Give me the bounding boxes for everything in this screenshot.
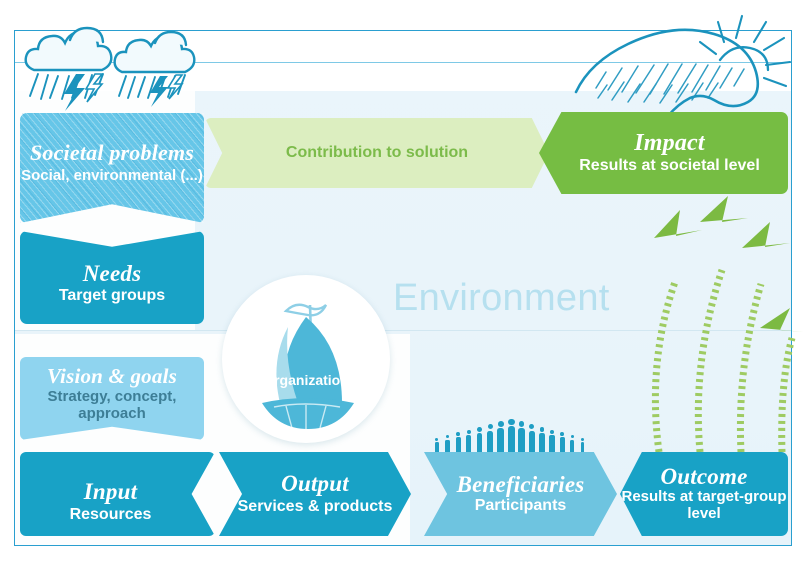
outcome-subtitle: Results at target-group level: [620, 489, 788, 523]
person-head-icon: [488, 424, 493, 429]
people-group-icon: [434, 424, 590, 454]
vision-goals-subtitle: Strategy, concept, approach: [20, 388, 204, 422]
person-head-icon: [550, 430, 554, 434]
organization-circle[interactable]: [222, 275, 390, 443]
person-icon: [560, 437, 565, 454]
input-title: Input: [84, 480, 137, 503]
horizon-line: [15, 62, 791, 63]
vision-goals-title: Vision & goals: [47, 366, 177, 387]
person-icon: [529, 431, 535, 454]
societal-problems-subtitle: Social, environmental (...): [21, 167, 203, 184]
person-icon: [570, 440, 574, 454]
output-subtitle: Services & products: [238, 498, 393, 516]
output-title: Output: [281, 472, 349, 495]
sailboat-icon: [222, 275, 390, 443]
societal-problems-title: Societal problems: [30, 142, 194, 164]
beneficiaries-title: Beneficiaries: [457, 473, 585, 496]
person-head-icon: [498, 421, 504, 427]
block-impact[interactable]: Impact Results at societal level: [539, 112, 788, 194]
beneficiaries-subtitle: Participants: [475, 497, 567, 515]
person-head-icon: [467, 430, 471, 434]
needs-subtitle: Target groups: [59, 287, 165, 305]
person-head-icon: [540, 427, 545, 432]
impact-logic-diagram: Societal problems Social, environmental …: [0, 0, 806, 572]
person-head-icon: [477, 427, 482, 432]
person-head-icon: [435, 438, 438, 441]
person-icon: [456, 437, 461, 454]
person-head-icon: [519, 421, 525, 427]
person-icon: [487, 431, 493, 454]
person-head-icon: [581, 438, 584, 441]
sky-band: [15, 31, 791, 91]
person-icon: [508, 426, 515, 454]
block-output[interactable]: Output Services & products: [219, 452, 411, 536]
impact-title: Impact: [634, 131, 705, 155]
contribution-label: Contribution to solution: [286, 144, 468, 162]
needs-title: Needs: [83, 262, 141, 285]
chevron-contribution-to-solution[interactable]: Contribution to solution: [205, 118, 549, 188]
person-icon: [549, 435, 554, 454]
person-icon: [539, 433, 545, 454]
person-head-icon: [571, 435, 574, 438]
block-input[interactable]: Input Resources: [20, 452, 215, 536]
block-beneficiaries[interactable]: Beneficiaries Participants: [424, 452, 617, 536]
person-head-icon: [560, 432, 564, 436]
environment-label: Environment: [393, 277, 610, 320]
person-icon: [518, 428, 525, 454]
organization-label: Organization: [250, 372, 362, 388]
input-subtitle: Resources: [70, 506, 152, 524]
person-icon: [497, 428, 504, 454]
person-icon: [445, 440, 449, 454]
person-head-icon: [529, 424, 534, 429]
section-divider: [15, 330, 791, 331]
outcome-title: Outcome: [661, 465, 748, 488]
person-icon: [466, 435, 471, 454]
person-head-icon: [508, 419, 514, 425]
person-icon: [477, 433, 483, 454]
block-outcome[interactable]: Outcome Results at target-group level: [620, 452, 788, 536]
person-head-icon: [446, 435, 449, 438]
person-head-icon: [456, 432, 460, 436]
impact-subtitle: Results at societal level: [579, 157, 760, 175]
